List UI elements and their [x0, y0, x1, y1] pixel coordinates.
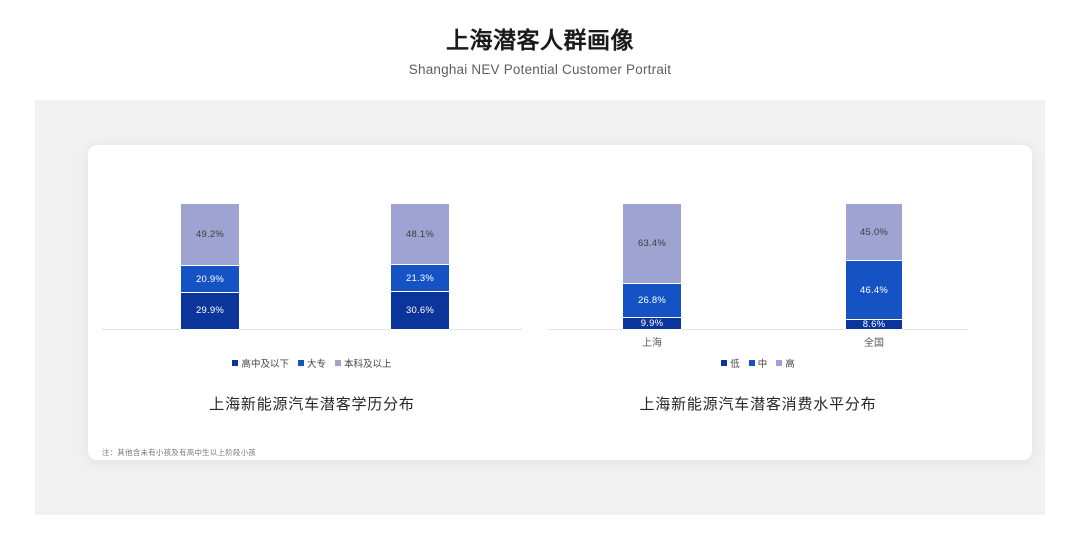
legend-swatch-icon — [721, 360, 727, 366]
legend-swatch-icon — [749, 360, 755, 366]
legend-label: 本科及以上 — [344, 356, 392, 370]
legend-item-medium[interactable]: 中 — [749, 356, 768, 370]
legend-item-high[interactable]: 高 — [776, 356, 795, 370]
chart-education: 49.2% 20.9% 29.9% 48.1% 21.3% 30.6% — [102, 145, 548, 460]
x-tick-label-national: 全国 — [834, 334, 914, 349]
legend-label: 大专 — [307, 356, 326, 370]
legend-education: 高中及以下 大专 本科及以上 — [102, 356, 522, 370]
x-axis-line — [548, 329, 968, 330]
legend-label: 低 — [730, 356, 740, 370]
legend-swatch-icon — [232, 360, 238, 366]
chart-consumption: 63.4% 26.8% 9.9% 45.0% 46.4% 8.6% 上海 全国 — [548, 145, 994, 460]
slide-panel: 49.2% 20.9% 29.9% 48.1% 21.3% 30.6% — [35, 100, 1045, 515]
legend-item-bachelor-plus[interactable]: 本科及以上 — [335, 356, 392, 370]
bar-segment-college[interactable]: 21.3% — [390, 264, 450, 291]
plot-area-education: 49.2% 20.9% 29.9% 48.1% 21.3% 30.6% — [102, 185, 522, 330]
page-subtitle: Shanghai NEV Potential Customer Portrait — [0, 62, 1080, 77]
bar-segment-high[interactable]: 45.0% — [845, 203, 903, 260]
x-axis-line — [102, 329, 522, 330]
legend-item-college[interactable]: 大专 — [298, 356, 326, 370]
stacked-bar-shanghai[interactable]: 49.2% 20.9% 29.9% — [180, 203, 240, 330]
bar-segment-bachelor-plus[interactable]: 49.2% — [180, 203, 240, 265]
bar-segment-bachelor-plus[interactable]: 48.1% — [390, 203, 450, 264]
bar-segment-medium[interactable]: 26.8% — [622, 283, 682, 317]
bar-segment-highschool-below[interactable]: 29.9% — [180, 292, 240, 330]
bar-segment-college[interactable]: 20.9% — [180, 265, 240, 292]
x-tick-label-shanghai: 上海 — [612, 334, 692, 349]
legend-swatch-icon — [335, 360, 341, 366]
legend-label: 高 — [785, 356, 795, 370]
legend-label: 中 — [758, 356, 768, 370]
page-title: 上海潜客人群画像 — [0, 26, 1080, 55]
bar-segment-high[interactable]: 63.4% — [622, 203, 682, 283]
legend-swatch-icon — [298, 360, 304, 366]
footnote-text: 注：其他含未有小孩及有高中生以上阶段小孩 — [102, 447, 256, 458]
bar-segment-low[interactable]: 8.6% — [845, 319, 903, 330]
bar-segment-low[interactable]: 9.9% — [622, 317, 682, 330]
stacked-bar-national[interactable]: 48.1% 21.3% 30.6% — [390, 203, 450, 330]
bar-segment-highschool-below[interactable]: 30.6% — [390, 291, 450, 330]
legend-consumption: 低 中 高 — [548, 356, 968, 370]
legend-label: 高中及以下 — [241, 356, 289, 370]
page-header: 上海潜客人群画像 Shanghai NEV Potential Customer… — [0, 0, 1080, 77]
legend-item-highschool-below[interactable]: 高中及以下 — [232, 356, 289, 370]
legend-swatch-icon — [776, 360, 782, 366]
legend-item-low[interactable]: 低 — [721, 356, 740, 370]
stacked-bar-national[interactable]: 45.0% 46.4% 8.6% — [845, 203, 903, 330]
chart-card: 49.2% 20.9% 29.9% 48.1% 21.3% 30.6% — [88, 145, 1032, 460]
plot-area-consumption: 63.4% 26.8% 9.9% 45.0% 46.4% 8.6% — [548, 185, 968, 330]
chart-caption-consumption: 上海新能源汽车潜客消费水平分布 — [548, 393, 968, 414]
x-axis-labels-education — [102, 331, 522, 349]
stacked-bar-shanghai[interactable]: 63.4% 26.8% 9.9% — [622, 203, 682, 330]
chart-caption-education: 上海新能源汽车潜客学历分布 — [102, 393, 522, 414]
bar-segment-medium[interactable]: 46.4% — [845, 260, 903, 319]
x-axis-labels-consumption: 上海 全国 — [548, 331, 968, 349]
charts-row: 49.2% 20.9% 29.9% 48.1% 21.3% 30.6% — [88, 145, 1032, 460]
